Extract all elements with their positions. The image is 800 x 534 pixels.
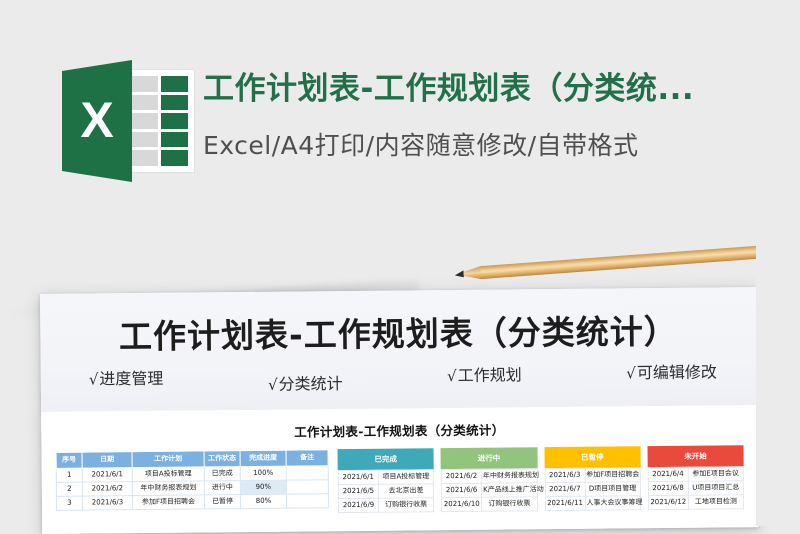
cell-task: 订购银行收票 xyxy=(378,498,433,513)
page-subtitle: Excel/A4打印/内容随意修改/自带格式 xyxy=(203,132,639,160)
feature-item: √进度管理 xyxy=(89,365,164,390)
cell-plan: 项目A投标管理 xyxy=(132,467,204,482)
table-row: 2021/6/2年中财务报表规划 xyxy=(441,469,536,484)
cell-plan: 参加F项目招聘会 xyxy=(132,495,204,510)
table-row: 32021/6/3参加F项目招聘会已暂停80% xyxy=(56,494,328,511)
document-preview-card: 工作计划表-工作规划表（分类统计） √进度管理√分类统计√工作规划√可编辑修改 … xyxy=(40,287,758,534)
document-title: 工作计划表-工作规划表（分类统计） xyxy=(40,304,756,359)
cell-task: 参加F项目招聘会 xyxy=(585,468,640,483)
cell-task: 项目A投标管理 xyxy=(378,470,433,485)
spreadsheet-body: 序号日期工作计划工作状态完成进度备注 12021/6/1项目A投标管理已完成10… xyxy=(56,445,745,516)
column-header: 日期 xyxy=(82,452,132,468)
page-right-margin xyxy=(756,0,800,526)
cell-date: 2021/6/11 xyxy=(545,496,585,510)
cell-task: U项目项目汇总 xyxy=(688,481,743,496)
table-row: 2021/6/7D项目项目管理 xyxy=(545,482,640,497)
excel-logo-letter: X xyxy=(62,60,132,182)
cell-state: 已完成 xyxy=(204,467,240,481)
cell-task: 参加E项目会议 xyxy=(688,467,743,482)
status-table: 2021/6/1项目A投标管理2021/6/5去北京出差2021/6/9订购银行… xyxy=(338,469,435,513)
table-row: 2021/6/3参加F项目招聘会 xyxy=(545,468,640,483)
column-header: 工作状态 xyxy=(204,451,240,467)
cell-note xyxy=(286,466,328,480)
check-icon: √ xyxy=(447,367,457,385)
table-row: 2021/6/6K产品线上推广活动 xyxy=(442,483,537,498)
work-plan-table: 序号日期工作计划工作状态完成进度备注 12021/6/1项目A投标管理已完成10… xyxy=(56,449,330,511)
pencil-cone xyxy=(461,266,481,280)
status-column: 已暂停2021/6/3参加F项目招聘会2021/6/7D项目项目管理2021/6… xyxy=(544,446,641,511)
cell-date: 2021/6/6 xyxy=(442,483,482,497)
cell-plan: 年中财务报表规划 xyxy=(132,481,204,496)
check-icon: √ xyxy=(89,370,99,388)
cell-no: 3 xyxy=(56,496,82,510)
column-header: 工作计划 xyxy=(132,451,204,468)
cell-note xyxy=(286,480,328,494)
feature-item: √工作规划 xyxy=(447,361,522,386)
cell-task: 年中财务报表规划 xyxy=(481,469,536,484)
table-row: 2021/6/5去北京出差 xyxy=(338,484,433,499)
table-row: 2021/6/12工地项目检测 xyxy=(648,495,743,510)
status-header: 未开始 xyxy=(647,445,743,467)
status-table: 2021/6/4参加E项目会议2021/6/8U项目项目汇总2021/6/12工… xyxy=(647,466,744,510)
column-header: 完成进度 xyxy=(240,450,286,466)
feature-label: 工作规划 xyxy=(458,365,522,385)
cell-progress: 90% xyxy=(240,480,286,494)
cell-note xyxy=(286,494,328,508)
cell-task: 工地项目检测 xyxy=(688,495,743,510)
cell-task: 去北京出差 xyxy=(378,484,433,499)
table-row: 2021/6/4参加E项目会议 xyxy=(648,467,743,482)
cell-date: 2021/6/1 xyxy=(82,468,132,482)
feature-item: √分类统计 xyxy=(268,370,343,395)
pencil-tip xyxy=(454,270,463,278)
cell-date: 2021/6/4 xyxy=(648,467,688,481)
table-row: 2021/6/10订购银行收票 xyxy=(442,497,537,512)
check-icon: √ xyxy=(626,364,636,382)
status-header: 已暂停 xyxy=(544,446,640,468)
status-column: 已完成2021/6/1项目A投标管理2021/6/5去北京出差2021/6/9订… xyxy=(338,448,435,513)
column-header: 序号 xyxy=(56,452,82,468)
feature-list: √进度管理√分类统计√工作规划√可编辑修改 xyxy=(89,360,717,390)
cell-date: 2021/6/3 xyxy=(545,468,585,482)
spreadsheet-title: 工作计划表-工作规划表（分类统计） xyxy=(55,417,743,443)
cell-date: 2021/6/8 xyxy=(648,481,688,495)
pencil-body xyxy=(479,242,800,279)
cell-state: 已暂停 xyxy=(204,495,240,509)
status-columns: 已完成2021/6/1项目A投标管理2021/6/5去北京出差2021/6/9订… xyxy=(338,445,745,513)
status-column: 未开始2021/6/4参加E项目会议2021/6/8U项目项目汇总2021/6/… xyxy=(647,445,744,510)
feature-item: √可编辑修改 xyxy=(626,359,717,384)
cell-state: 进行中 xyxy=(204,481,240,495)
spreadsheet-area: 工作计划表-工作规划表（分类统计） 序号日期工作计划工作状态完成进度备注 120… xyxy=(41,405,758,534)
document-cover: 工作计划表-工作规划表（分类统计） √进度管理√分类统计√工作规划√可编辑修改 xyxy=(40,287,757,412)
cell-date: 2021/6/3 xyxy=(82,496,132,510)
preview-stage: X 工作计划表-工作规划表（分类统... Excel/A4打印/内容随意修改/自… xyxy=(0,0,800,526)
cell-task: K产品线上推广活动 xyxy=(482,483,537,498)
status-column: 进行中2021/6/2年中财务报表规划2021/6/6K产品线上推广活动2021… xyxy=(441,447,538,512)
cell-progress: 80% xyxy=(240,494,286,508)
column-header: 备注 xyxy=(286,450,328,466)
cell-date: 2021/6/2 xyxy=(82,482,132,496)
feature-label: 进度管理 xyxy=(99,369,163,389)
status-table: 2021/6/3参加F项目招聘会2021/6/7D项目项目管理2021/6/11… xyxy=(544,467,641,511)
table-row: 2021/6/9订购银行收票 xyxy=(338,498,433,513)
table-row: 2021/6/1项目A投标管理 xyxy=(338,470,433,485)
page-title: 工作计划表-工作规划表（分类统... xyxy=(203,72,694,106)
header-banner: X 工作计划表-工作规划表（分类统... Excel/A4打印/内容随意修改/自… xyxy=(0,0,800,205)
cell-progress: 100% xyxy=(240,466,286,480)
cell-no: 2 xyxy=(56,482,82,496)
status-header: 进行中 xyxy=(441,447,537,469)
feature-label: 分类统计 xyxy=(278,374,342,394)
cell-date: 2021/6/1 xyxy=(338,470,378,484)
cell-date: 2021/6/2 xyxy=(441,469,481,483)
table-row: 2021/6/11人事大会议事筹理 xyxy=(545,496,640,511)
cell-date: 2021/6/7 xyxy=(545,482,585,496)
status-header: 已完成 xyxy=(338,448,434,470)
excel-logo-grid xyxy=(131,76,188,166)
cell-task: 订购银行收票 xyxy=(482,497,537,512)
check-icon: √ xyxy=(268,376,278,394)
excel-logo-sheet xyxy=(125,70,194,172)
cell-date: 2021/6/9 xyxy=(338,498,378,512)
cell-task: D项目项目管理 xyxy=(585,482,640,497)
feature-label: 可编辑修改 xyxy=(637,363,717,383)
cell-date: 2021/6/12 xyxy=(648,495,688,509)
table-row: 2021/6/8U项目项目汇总 xyxy=(648,481,743,496)
cell-no: 1 xyxy=(56,468,82,482)
cell-date: 2021/6/10 xyxy=(442,497,482,511)
work-plan-body: 12021/6/1项目A投标管理已完成100%22021/6/2年中财务报表规划… xyxy=(56,466,328,511)
cell-task: 人事大会议事筹理 xyxy=(585,496,640,511)
cell-date: 2021/6/5 xyxy=(338,484,378,498)
excel-logo: X xyxy=(62,60,194,182)
status-table: 2021/6/2年中财务报表规划2021/6/6K产品线上推广活动2021/6/… xyxy=(441,468,538,512)
